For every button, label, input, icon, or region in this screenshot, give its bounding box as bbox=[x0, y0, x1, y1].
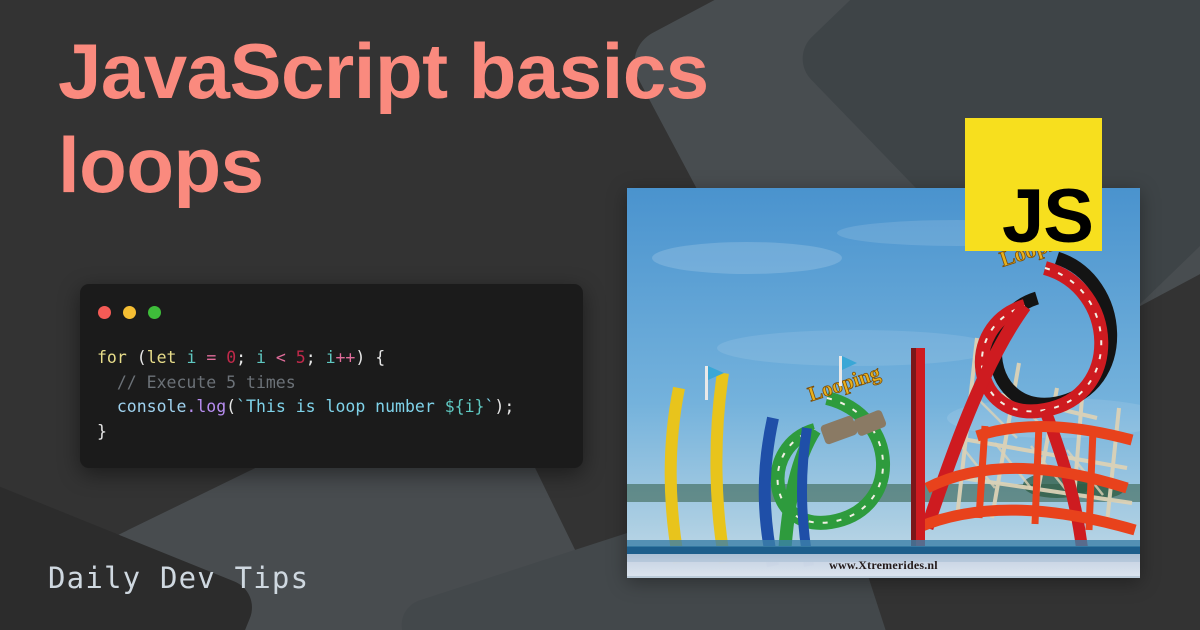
maximize-icon[interactable] bbox=[148, 306, 161, 319]
code-token-punct: ; bbox=[306, 348, 326, 367]
js-logo-label: JS bbox=[1002, 179, 1093, 255]
code-token-interp: ${i} bbox=[445, 397, 485, 416]
background-shape-bottom-left-dark bbox=[0, 468, 260, 630]
javascript-logo-badge: JS bbox=[965, 118, 1102, 251]
title-line-1: JavaScript basics bbox=[58, 24, 618, 118]
social-card: JavaScript basics loops for (let i = 0; … bbox=[0, 0, 1200, 630]
code-token-method: .log bbox=[186, 397, 226, 416]
code-token-punct: ( bbox=[127, 348, 147, 367]
code-token-punct: ; bbox=[236, 348, 256, 367]
code-token-punct bbox=[196, 348, 206, 367]
code-token-string: ` bbox=[484, 397, 494, 416]
title-line-2: loops bbox=[58, 118, 618, 212]
code-token-punct: } bbox=[97, 422, 107, 441]
code-line: console.log(`This is loop number ${i}`); bbox=[97, 395, 573, 420]
code-token-string: `This is loop number bbox=[236, 397, 445, 416]
code-token-punct bbox=[177, 348, 187, 367]
close-icon[interactable] bbox=[98, 306, 111, 319]
minimize-icon[interactable] bbox=[123, 306, 136, 319]
code-token-operator: ++ bbox=[336, 348, 356, 367]
code-token-punct bbox=[97, 397, 117, 416]
code-line: for (let i = 0; i < 5; i++) { bbox=[97, 346, 573, 371]
code-token-variable: i bbox=[256, 348, 266, 367]
code-line: // Execute 5 times bbox=[97, 371, 573, 396]
code-token-number: 5 bbox=[296, 348, 306, 367]
code-token-object: console bbox=[117, 397, 187, 416]
code-token-punct bbox=[266, 348, 276, 367]
page-title: JavaScript basics loops bbox=[58, 24, 618, 212]
brand-footer: Daily Dev Tips bbox=[48, 561, 309, 595]
code-token-keyword: for bbox=[97, 348, 127, 367]
photo-watermark: www.Xtremerides.nl bbox=[627, 554, 1140, 576]
code-token-comment: // Execute 5 times bbox=[97, 373, 296, 392]
code-token-operator: = bbox=[206, 348, 216, 367]
code-token-variable: i bbox=[326, 348, 336, 367]
code-token-punct: ( bbox=[226, 397, 236, 416]
code-line: } bbox=[97, 420, 573, 445]
code-token-operator: < bbox=[276, 348, 286, 367]
code-token-punct: ); bbox=[494, 397, 514, 416]
code-token-punct: ) { bbox=[355, 348, 385, 367]
code-block: for (let i = 0; i < 5; i++) { // Execute… bbox=[97, 346, 573, 444]
code-token-keyword: let bbox=[147, 348, 177, 367]
code-token-number: 0 bbox=[226, 348, 236, 367]
code-snippet-card: for (let i = 0; i < 5; i++) { // Execute… bbox=[80, 284, 583, 468]
code-token-variable: i bbox=[186, 348, 196, 367]
code-token-punct bbox=[216, 348, 226, 367]
window-controls bbox=[98, 306, 161, 319]
code-token-punct bbox=[286, 348, 296, 367]
